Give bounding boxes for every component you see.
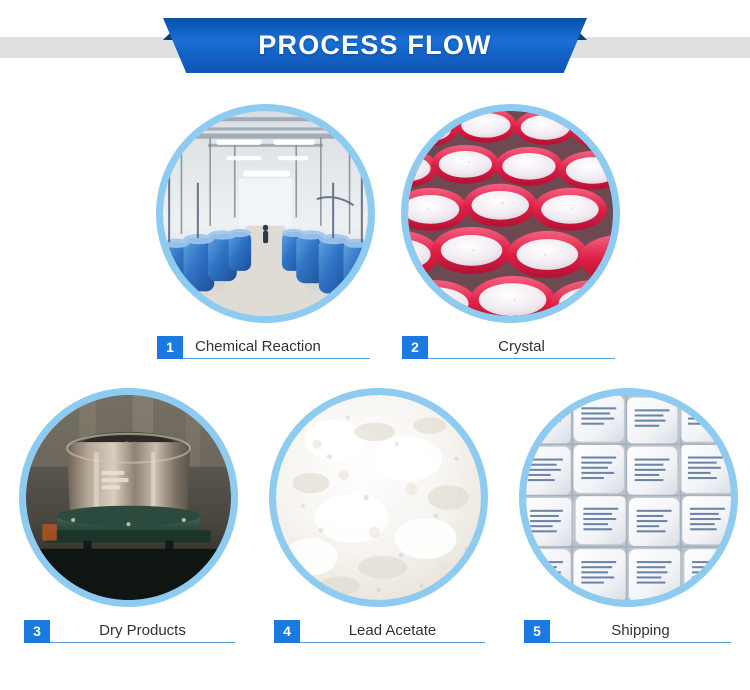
page-header: PROCESS FLOW: [0, 0, 750, 100]
step-2-badge: 2: [402, 336, 428, 359]
step-3-badge: 3: [24, 620, 50, 643]
row-top-left-spacer: [0, 104, 152, 359]
white-powder-photo: [276, 395, 481, 600]
step-3-label: Dry Products: [50, 619, 235, 643]
step-4-badge: 4: [274, 620, 300, 643]
step-2-label: Crystal: [428, 335, 615, 359]
step-item-2[interactable]: 2 Crystal: [397, 104, 623, 359]
step-4-label-row: 4 Lead Acetate: [274, 619, 485, 643]
step-1-label: Chemical Reaction: [183, 335, 370, 359]
step-5-label-row: 5 Shipping: [524, 619, 731, 643]
step-1-label-row: 1 Chemical Reaction: [157, 335, 370, 359]
stacked-white-bags-photo: [526, 395, 731, 600]
page-title: PROCESS FLOW: [258, 30, 491, 61]
process-row-top: 1 Chemical Reaction: [0, 104, 750, 359]
step-4-label: Lead Acetate: [300, 619, 485, 643]
step-3-image-circle: [19, 388, 238, 607]
step-item-3[interactable]: 3 Dry Products: [12, 388, 245, 643]
step-5-image-circle: [519, 388, 738, 607]
step-4-image-circle: [269, 388, 488, 607]
step-5-badge: 5: [524, 620, 550, 643]
process-row-bottom: 3 Dry Products: [0, 388, 750, 643]
stainless-centrifuge-dryer-photo: [26, 395, 231, 600]
red-trays-white-crystal-photo: [408, 111, 613, 316]
step-1-badge: 1: [157, 336, 183, 359]
step-item-1[interactable]: 1 Chemical Reaction: [152, 104, 378, 359]
step-2-image-circle: [401, 104, 620, 323]
step-item-4[interactable]: 4 Lead Acetate: [262, 388, 495, 643]
step-item-5[interactable]: 5 Shipping: [512, 388, 745, 643]
step-2-label-row: 2 Crystal: [402, 335, 615, 359]
ribbon-banner: PROCESS FLOW: [0, 0, 750, 100]
ribbon-body: PROCESS FLOW: [163, 18, 587, 73]
step-3-label-row: 3 Dry Products: [24, 619, 235, 643]
factory-reactors-photo: [163, 111, 368, 316]
step-1-image-circle: [156, 104, 375, 323]
step-5-label: Shipping: [550, 619, 731, 643]
